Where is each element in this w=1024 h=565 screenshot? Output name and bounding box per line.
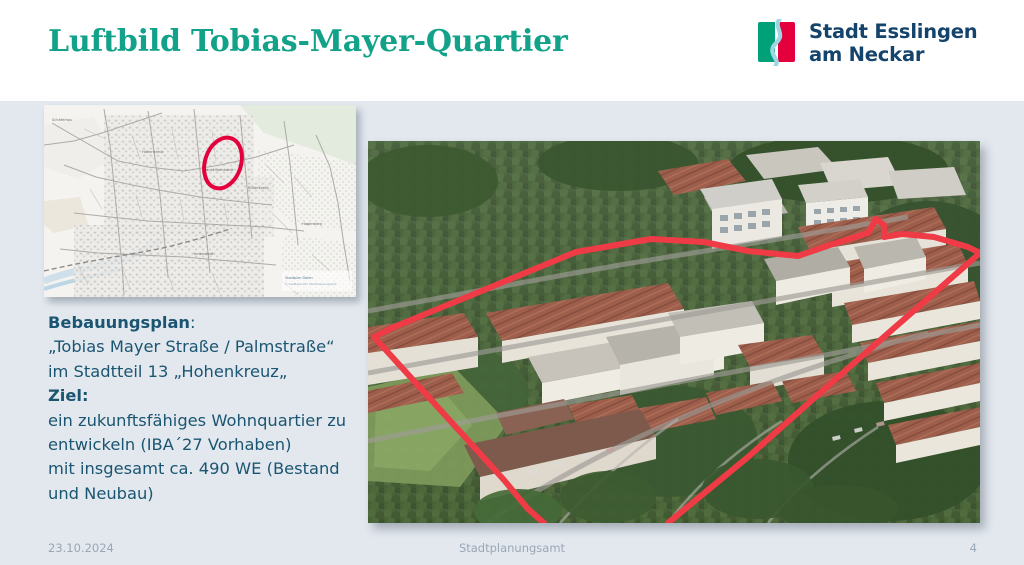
ziel-label: Ziel: [48, 384, 368, 408]
slide-root: Luftbild Tobias-Mayer-Quartier Stadt Ess… [0, 0, 1024, 565]
stadtteil-line: im Stadtteil 13 „Hohenkreuz„ [48, 360, 368, 384]
svg-text:Stadtplan Daten: Stadtplan Daten [285, 276, 313, 280]
aerial-photo [368, 141, 980, 523]
svg-text:© GeoBasis-DE / Stadtmessungsa: © GeoBasis-DE / Stadtmessungsamt [285, 282, 337, 286]
svg-text:Hagenberg: Hagenberg [302, 222, 322, 226]
logo-mark-icon [757, 19, 797, 66]
ziel-line-3: mit insgesamt ca. 490 WE (Bestand [48, 457, 368, 481]
aerial-photo-image [368, 141, 980, 523]
bebauungsplan-colon: : [190, 313, 196, 332]
logo-line-1: Stadt Esslingen [809, 20, 977, 43]
logo-wordmark: Stadt Esslingen am Neckar [809, 20, 977, 66]
bebauungsplan-line: Bebauungsplan: [48, 311, 368, 335]
ziel-line-1: ein zukunftsfähiges Wohnquartier zu [48, 409, 368, 433]
logo-line-2: am Neckar [809, 43, 977, 66]
svg-text:Rüdersberg: Rüdersberg [248, 186, 269, 190]
footer-department: Stadtplanungsamt [0, 541, 1024, 555]
svg-text:Sankt Bernhardt: Sankt Bernhardt [204, 168, 234, 172]
plan-name-line: „Tobias Mayer Straße / Palmstraße“ [48, 335, 368, 359]
bebauungsplan-label: Bebauungsplan [48, 313, 190, 332]
ziel-line-4: und Neubau) [48, 482, 368, 506]
page-title: Luftbild Tobias-Mayer-Quartier [48, 24, 568, 59]
overview-map-inset: Schäferhau Hohenkreuz Sankt Bernhardt Rü… [44, 105, 356, 297]
body-text-block: Bebauungsplan: „Tobias Mayer Straße / Pa… [48, 311, 368, 506]
stadt-esslingen-logo: Stadt Esslingen am Neckar [757, 19, 977, 71]
svg-text:Hohenkreuz: Hohenkreuz [142, 150, 164, 154]
overview-map-image: Schäferhau Hohenkreuz Sankt Bernhardt Rü… [44, 105, 356, 297]
slide-footer: 23.10.2024 Stadtplanungsamt 4 [0, 533, 1024, 565]
footer-page-number: 4 [970, 541, 977, 555]
logo-neckar-wave-icon [768, 19, 786, 66]
svg-text:Innenstadt: Innenstadt [194, 252, 214, 256]
svg-text:Schäferhau: Schäferhau [52, 118, 72, 122]
ziel-line-2: entwickeln (IBA´27 Vorhaben) [48, 433, 368, 457]
slide-header: Luftbild Tobias-Mayer-Quartier Stadt Ess… [0, 0, 1024, 101]
